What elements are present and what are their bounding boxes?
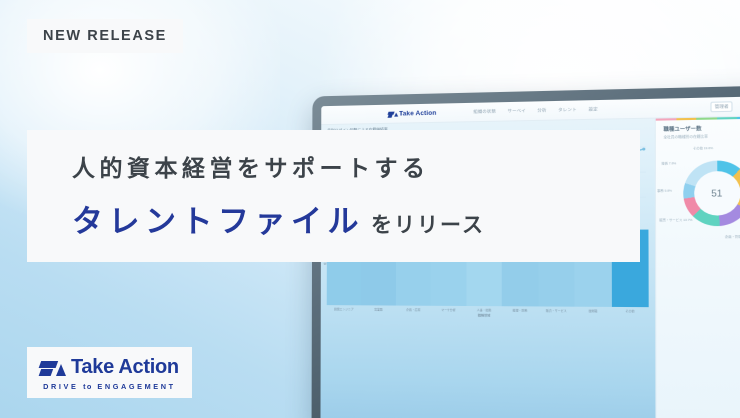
new-release-label: NEW RELEASE — [43, 28, 167, 44]
heatmap-x-1: 営業職 — [361, 307, 396, 311]
app-header-right: 管理者 ヘルプ — [710, 100, 740, 112]
take-action-mark-icon — [388, 110, 397, 117]
headline-line-1: 人的資本経営をサポートする — [72, 149, 430, 183]
heatmap-x-title: 職種領域 — [327, 312, 649, 319]
nav-item-0[interactable]: 組織の状態 — [473, 108, 496, 115]
donut-chart: 51 エンジニア 11.8% 営業職 21.6% 企画・管理 15.7% 販売・… — [656, 137, 740, 248]
job-type-card: 職種ユーザー数 全社員の職種別の在籍比率 51 エンジニア 11.8% 営業職 … — [655, 116, 740, 418]
heatmap-x-3: マーケ分析 — [431, 308, 466, 312]
nav-item-4[interactable]: 設定 — [589, 106, 598, 112]
take-action-logo-icon — [40, 358, 67, 377]
tagline-right: ENGAGEMENT — [97, 382, 175, 391]
donut-label-2: 企画・管理 15.7% — [725, 236, 740, 240]
donut-label-6: その他 19.6% — [693, 147, 713, 151]
tagline-left: DRIVE — [43, 382, 78, 391]
donut-center: 51 — [694, 171, 740, 216]
brand-logo-box: Take Action DRIVE to ENGAGEMENT — [27, 347, 192, 398]
account-pill[interactable]: 管理者 — [710, 101, 733, 112]
nav-item-1[interactable]: サーベイ — [507, 108, 525, 115]
brand-name: Take Action — [71, 356, 179, 379]
donut-label-5: 技術 7.8% — [661, 162, 676, 166]
donut-center-value: 51 — [711, 188, 722, 199]
brand-logo-row: Take Action — [40, 356, 179, 379]
headline-band: 人的資本経営をサポートする タレントファイル をリリース — [27, 130, 640, 262]
new-release-badge: NEW RELEASE — [27, 19, 183, 53]
heatmap-x-0: 開発エンジニア — [327, 307, 361, 311]
heatmap-x-7: 技術職 — [575, 309, 612, 313]
donut-label-3: 販売・サービス 13.7% — [659, 219, 692, 223]
app-logo[interactable]: Take Action — [388, 109, 436, 117]
app-nav[interactable]: 組織の状態 サーベイ 分析 タレント 設定 — [473, 106, 598, 115]
brand-tagline: DRIVE to ENGAGEMENT — [43, 382, 176, 391]
headline-tail: をリリース — [371, 209, 485, 239]
heatmap-x-5: 経理・財務 — [502, 308, 538, 312]
heatmap-x-2: 企画・広報 — [396, 308, 431, 312]
donut-label-4: 事務 9.8% — [657, 190, 672, 194]
tagline-mid: to — [83, 382, 93, 391]
headline-emphasis: タレントファイル — [72, 196, 364, 241]
nav-item-3[interactable]: タレント — [558, 107, 577, 114]
card-title: 職種ユーザー数 — [663, 124, 740, 133]
app-logo-text: Take Action — [399, 109, 436, 117]
heatmap-x-4: 人事・総務 — [466, 308, 502, 312]
heatmap-x-6: 販売・サービス — [538, 309, 574, 313]
nav-item-2[interactable]: 分析 — [537, 107, 546, 113]
promo-banner: Take Action 組織の状態 サーベイ 分析 タレント 設定 管理者 ヘル… — [0, 0, 740, 418]
headline-line-2: タレントファイル をリリース — [72, 196, 485, 241]
heatmap-x-8: その他 — [611, 309, 648, 313]
